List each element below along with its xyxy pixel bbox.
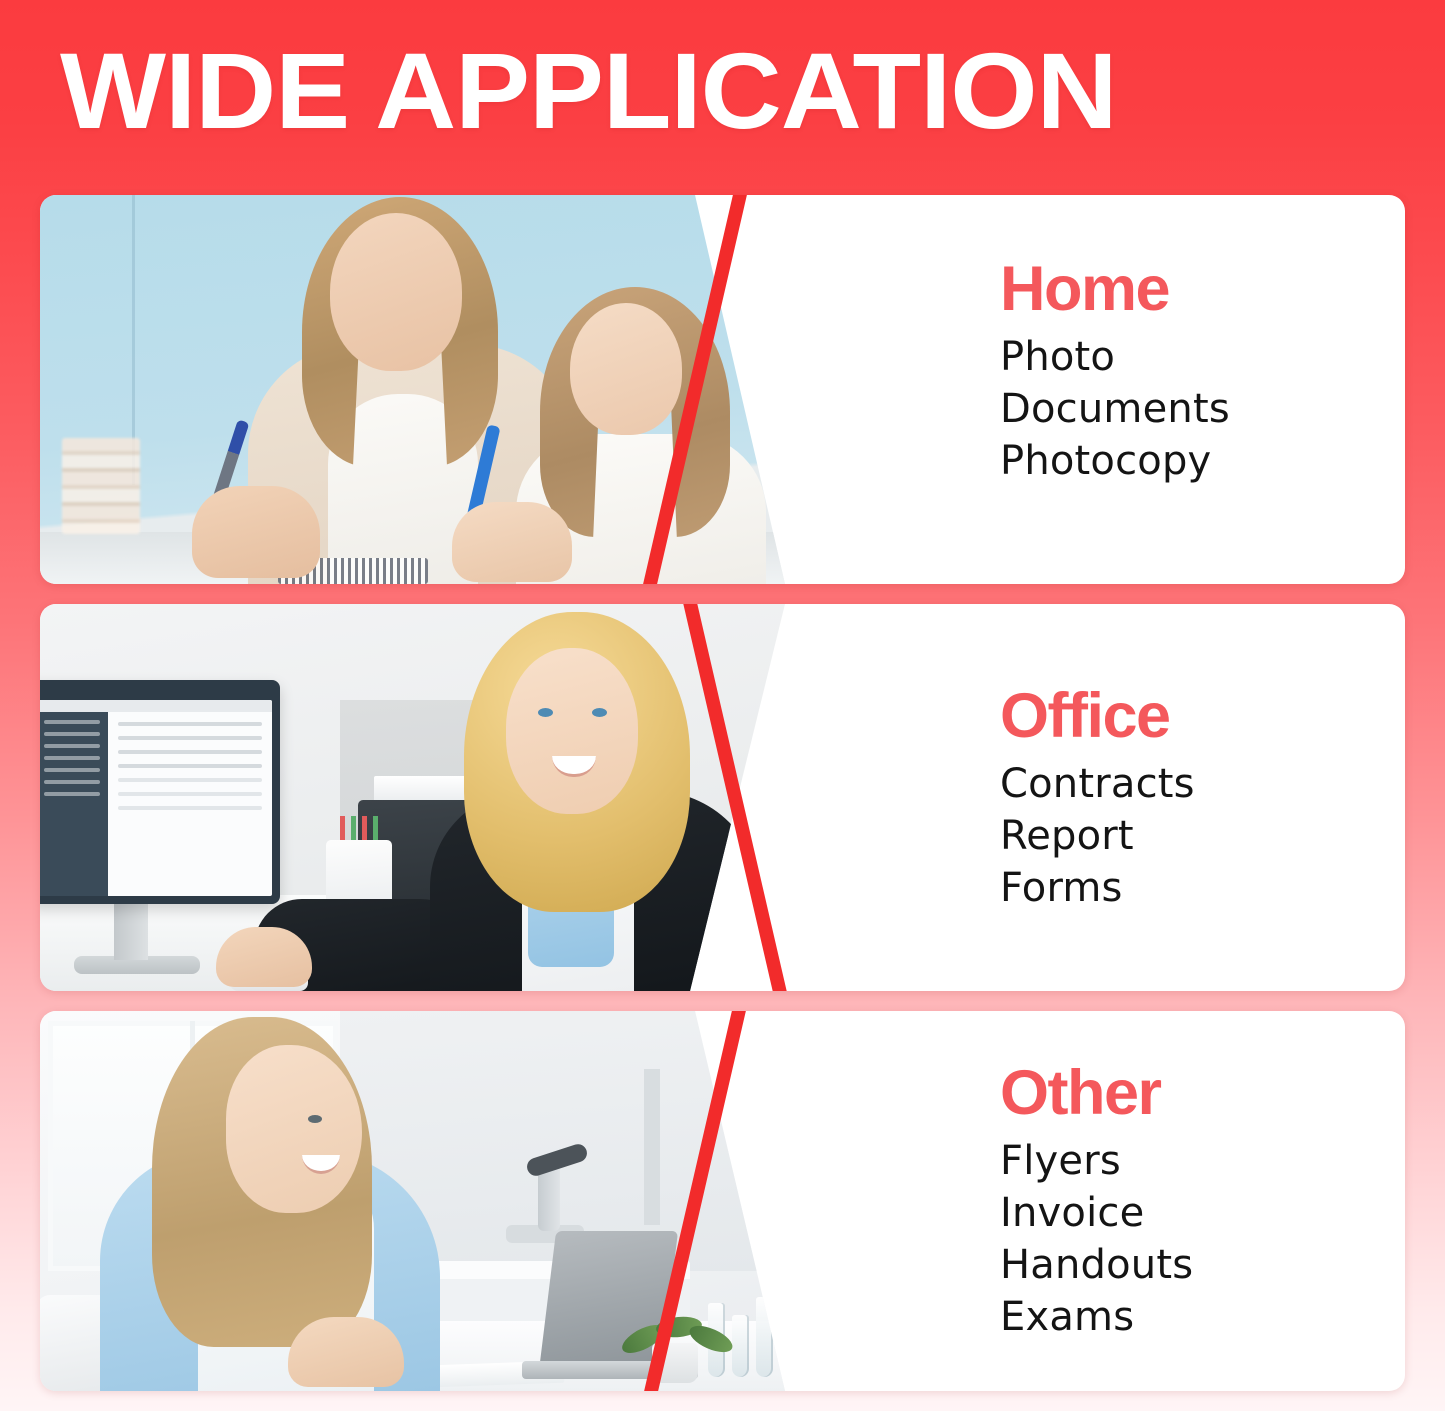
list-item: Exams [1000,1291,1405,1343]
screen-toolbar [40,700,272,712]
title-banner: WIDE APPLICATION [0,0,1445,188]
list-item: Handouts [1000,1239,1405,1291]
category-heading-home: Home [1000,253,1405,325]
list-item: Report [1000,810,1405,862]
woman-eye [538,708,553,717]
category-heading-other: Other [1000,1057,1405,1129]
book-stack [62,438,140,534]
test-tube [732,1315,749,1377]
monitor-screen [40,700,272,896]
list-item: Forms [1000,862,1405,914]
girl-head [570,303,682,435]
woman-face [226,1045,362,1213]
card-photo-office [40,604,830,991]
list-item: Photocopy [1000,435,1405,487]
category-list-other: Flyers Invoice Handouts Exams [1000,1135,1405,1343]
card-text-office: Office Contracts Report Forms [830,604,1405,991]
desktop-monitor [40,680,280,904]
list-item: Invoice [1000,1187,1405,1239]
wide-application-poster: WIDE APPLICATION [0,0,1445,1411]
card-photo-other [40,1011,830,1391]
woman-hand [216,927,312,987]
application-card-office: Office Contracts Report Forms [40,604,1405,991]
lab-scene-illustration [40,1011,830,1391]
woman-face [506,648,638,814]
category-list-home: Photo Documents Photocopy [1000,331,1405,487]
woman-eye [592,708,607,717]
woman-hands [288,1317,404,1387]
card-photo-home [40,195,830,584]
list-item: Flyers [1000,1135,1405,1187]
woman-hand [192,486,320,578]
card-text-other: Other Flyers Invoice Handouts Exams [830,1011,1405,1391]
home-scene-illustration [40,195,830,584]
screen-document-lines [118,722,262,726]
office-scene-illustration [40,604,830,991]
category-heading-office: Office [1000,680,1405,752]
application-card-home: Home Photo Documents Photocopy [40,195,1405,584]
woman-head [330,213,462,371]
list-item: Documents [1000,383,1405,435]
category-list-office: Contracts Report Forms [1000,758,1405,914]
page-title: WIDE APPLICATION [60,30,1117,152]
monitor-neck [114,902,148,960]
list-item: Photo [1000,331,1405,383]
test-tube [756,1297,773,1377]
girl-hand [452,502,572,582]
lab-stand [644,1069,660,1225]
pen-cup-pens [340,816,384,842]
list-item: Contracts [1000,758,1405,810]
card-text-home: Home Photo Documents Photocopy [830,195,1405,584]
screen-sidebar [40,712,108,896]
woman-eye [308,1115,322,1123]
application-card-other: Other Flyers Invoice Handouts Exams [40,1011,1405,1391]
